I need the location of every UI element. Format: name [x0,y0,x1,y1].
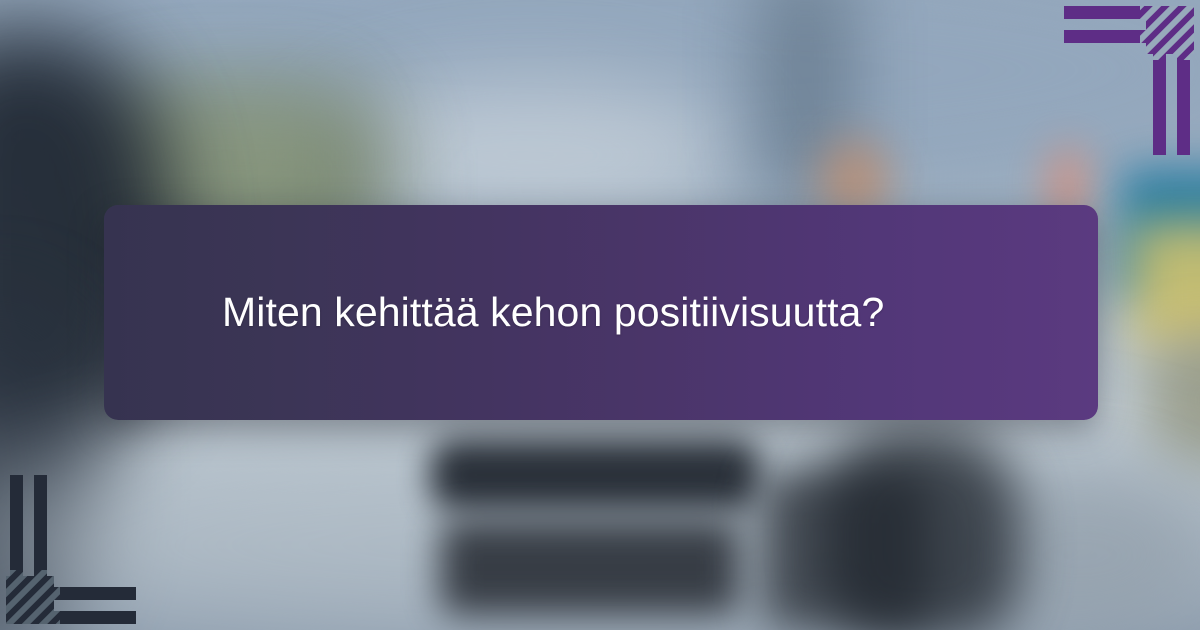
page-title: Miten kehittää kehon positiivisuutta? [222,287,884,338]
headline-banner: Miten kehittää kehon positiivisuutta? [104,205,1098,420]
background-blob-equipment-2 [440,520,740,615]
background-blob-yellow [1130,220,1200,350]
background-blob-equipment-1 [430,440,760,510]
background-blob-person [820,430,1020,630]
share-card: Miten kehittää kehon positiivisuutta? [0,0,1200,630]
